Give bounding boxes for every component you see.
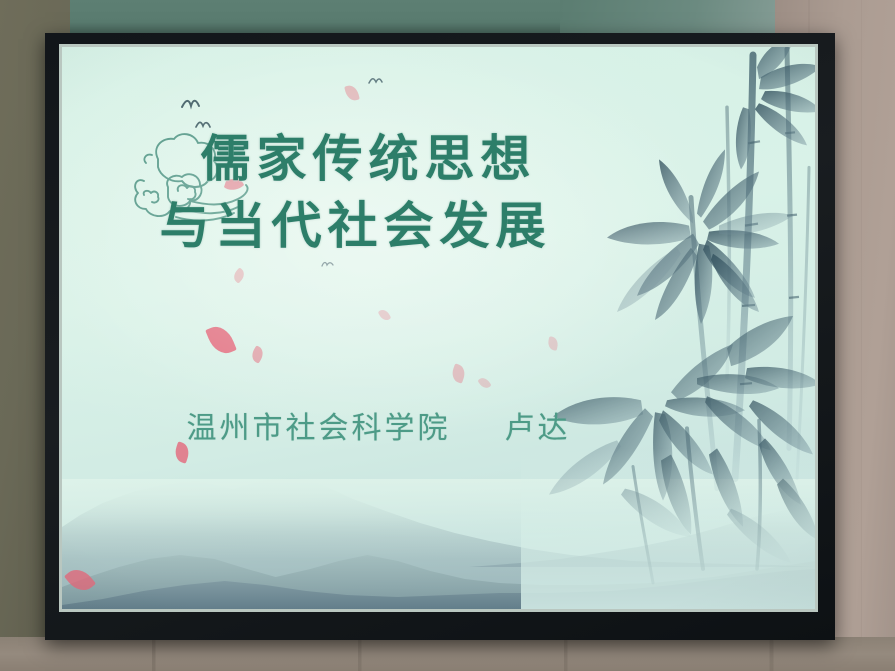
subtitle-line: 温州市社会科学院卢达 bbox=[62, 403, 695, 447]
slide-text-layer: 儒家传统思想 与当代社会发展 温州市社会科学院卢达 bbox=[62, 47, 815, 609]
subtitle-presenter: 卢达 bbox=[505, 411, 571, 446]
presentation-slide: 儒家传统思想 与当代社会发展 温州市社会科学院卢达 bbox=[62, 47, 815, 609]
slide-title: 儒家传统思想 与当代社会发展 bbox=[62, 125, 815, 259]
title-line-1: 儒家传统思想 bbox=[62, 125, 675, 192]
title-line-2: 与当代社会发展 bbox=[62, 192, 675, 259]
conference-room-photo: 儒家传统思想 与当代社会发展 温州市社会科学院卢达 bbox=[0, 0, 895, 671]
wall-lower-ledge bbox=[0, 637, 895, 671]
subtitle-organization: 温州市社会科学院 bbox=[187, 411, 451, 446]
slide-subtitle: 温州市社会科学院卢达 bbox=[62, 403, 815, 447]
projection-screen-inner-border: 儒家传统思想 与当代社会发展 温州市社会科学院卢达 bbox=[59, 44, 818, 612]
projection-screen-frame: 儒家传统思想 与当代社会发展 温州市社会科学院卢达 bbox=[45, 33, 835, 640]
